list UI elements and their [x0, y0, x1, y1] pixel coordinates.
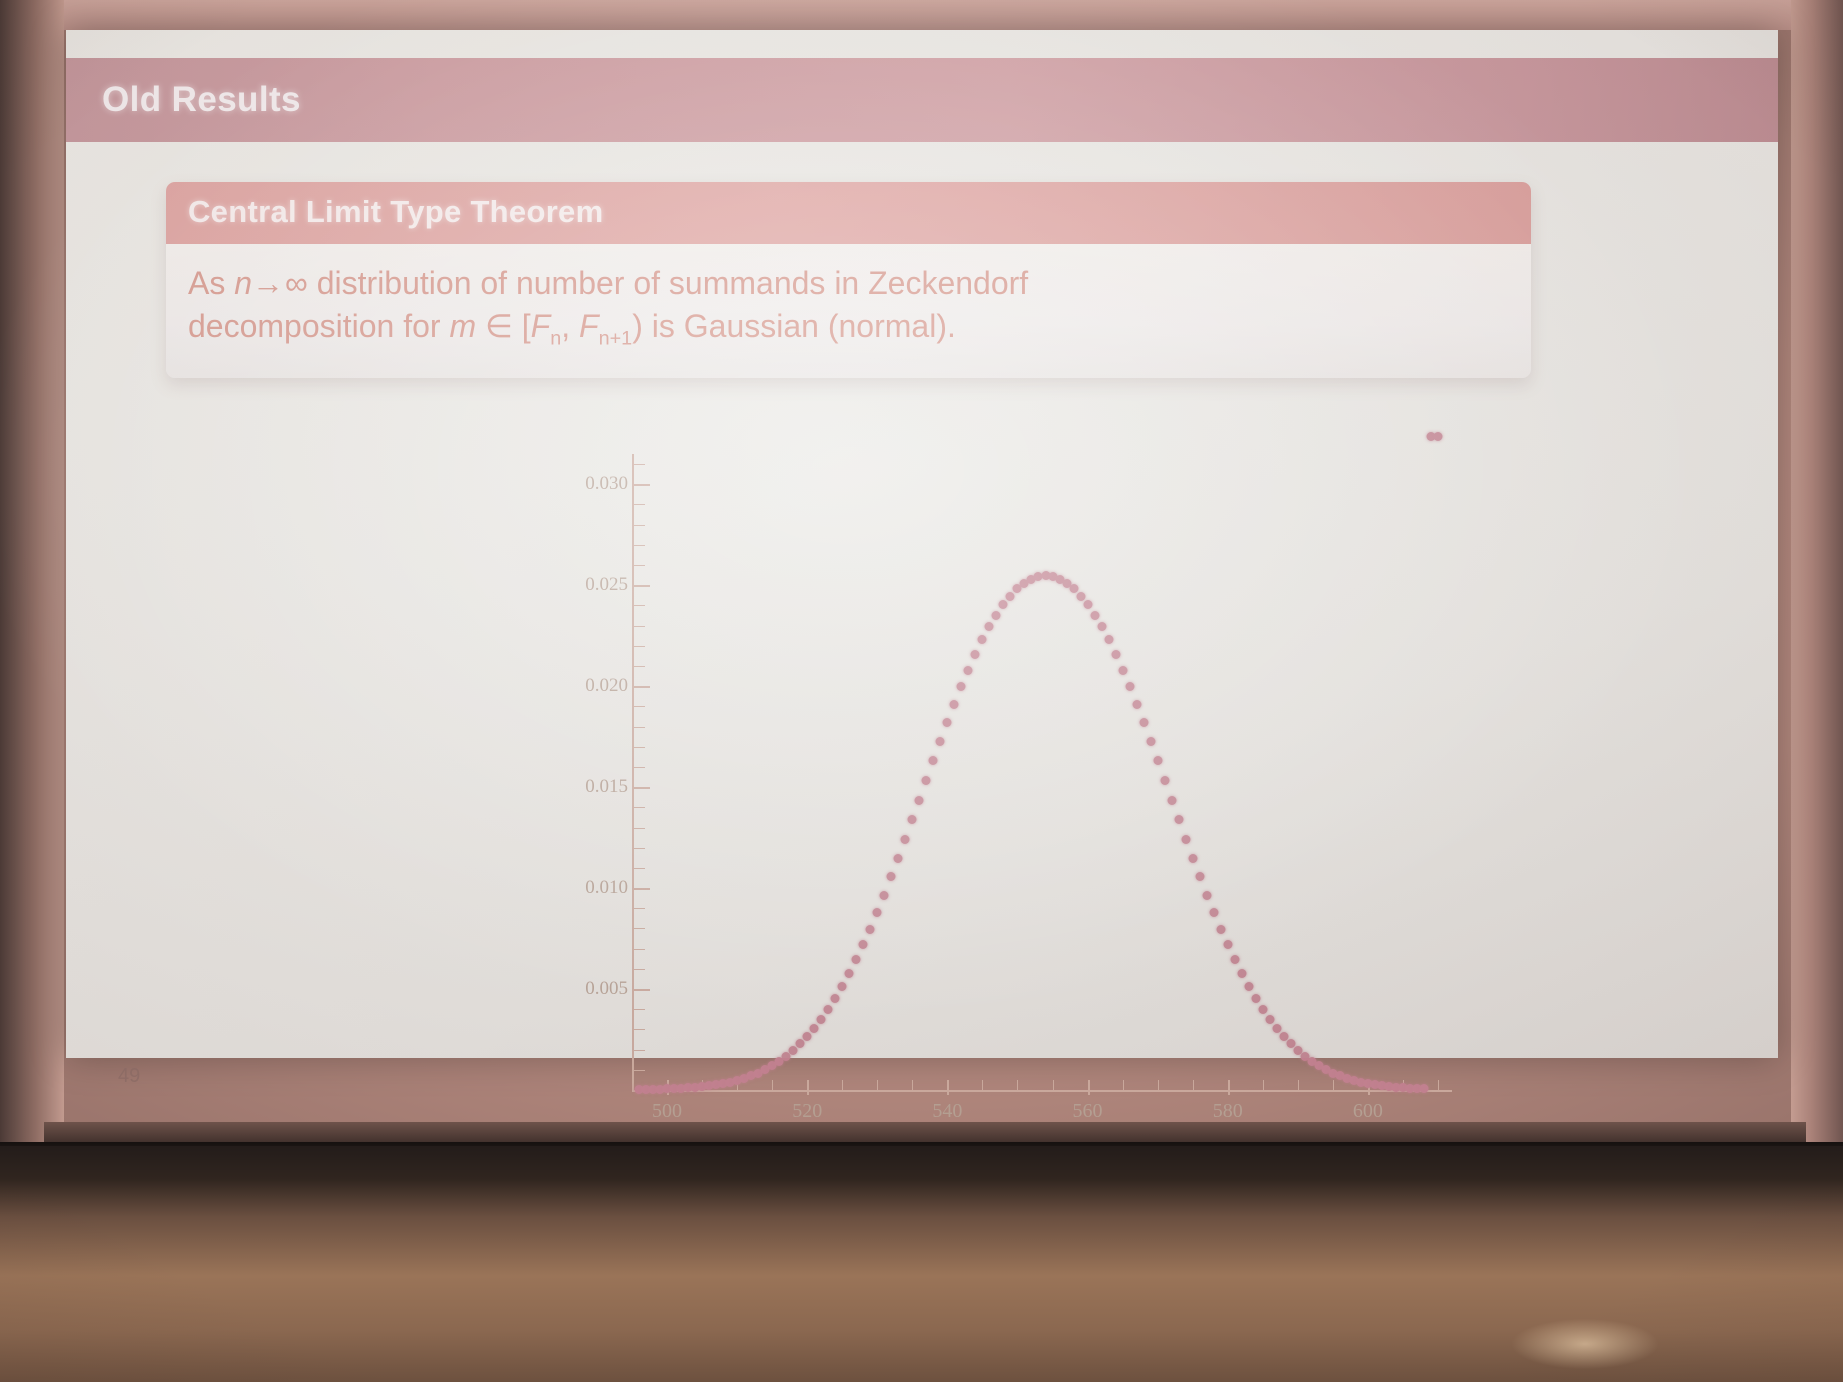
y-tick-minor	[634, 464, 645, 465]
data-point	[1433, 432, 1442, 441]
data-point	[1188, 854, 1197, 863]
data-point	[845, 969, 854, 978]
x-tick-label: 540	[912, 1100, 982, 1123]
y-tick-minor	[634, 949, 645, 950]
data-point	[936, 737, 945, 746]
y-tick-minor	[634, 908, 645, 909]
data-point	[1272, 1024, 1281, 1033]
element-of-symbol: ∈	[485, 308, 513, 344]
data-point	[901, 835, 910, 844]
y-tick-minor	[634, 727, 645, 728]
x-tick-minor	[1438, 1080, 1439, 1091]
wall-top	[0, 0, 1843, 30]
data-point	[1167, 796, 1176, 805]
data-point	[1237, 969, 1246, 978]
x-tick-minor	[1193, 1080, 1194, 1091]
theorem-fibonacci-Fn: F	[531, 308, 551, 344]
data-point	[1118, 666, 1127, 675]
data-point	[1160, 776, 1169, 785]
y-tick-minor	[634, 767, 645, 768]
y-tick-major	[634, 484, 650, 486]
data-point	[943, 718, 952, 727]
x-tick-minor	[1263, 1080, 1264, 1091]
y-tick-minor	[634, 747, 645, 748]
data-point	[1223, 940, 1232, 949]
y-tick-minor	[634, 545, 645, 546]
gaussian-distribution-chart: 0.0050.0100.0150.0200.0250.030 500520540…	[470, 432, 1470, 1122]
data-point	[1097, 622, 1106, 631]
infinity-symbol: ∞	[285, 265, 308, 301]
interval-comma: ,	[561, 308, 579, 344]
data-point	[1230, 955, 1239, 964]
interval-close-paren: )	[632, 308, 643, 344]
theorem-body: As n→∞ distribution of number of summand…	[166, 244, 1531, 378]
x-tick-minor	[772, 1080, 773, 1091]
right-arrow-icon: →	[252, 265, 285, 301]
data-point	[1125, 682, 1134, 691]
y-tick-label: 0.015	[538, 776, 628, 798]
data-point	[915, 796, 924, 805]
y-tick-label: 0.010	[538, 877, 628, 899]
data-point	[1419, 1084, 1428, 1093]
theorem-line2-variable-m: m	[449, 308, 476, 344]
theorem-heading-label: Central Limit Type Theorem	[188, 194, 603, 229]
data-point	[1181, 835, 1190, 844]
chart-x-axis	[632, 1090, 1452, 1092]
x-tick-major	[1228, 1080, 1230, 1095]
data-point	[985, 622, 994, 631]
interval-open-bracket: [	[522, 308, 531, 344]
y-tick-minor	[634, 1029, 645, 1030]
data-point	[866, 925, 875, 934]
data-point	[831, 994, 840, 1003]
y-tick-minor	[634, 666, 645, 667]
y-tick-minor	[634, 706, 645, 707]
theorem-Fn-subscript: n	[550, 327, 561, 349]
data-point	[1139, 718, 1148, 727]
projector-photo-background: Old Results Central Limit Type Theorem A…	[0, 0, 1843, 1382]
theorem-line-1: As n→∞ distribution of number of summand…	[188, 262, 1505, 305]
data-point	[978, 635, 987, 644]
data-point	[1146, 737, 1155, 746]
theorem-Fn1-subscript: n+1	[599, 327, 633, 349]
y-tick-minor	[634, 868, 645, 869]
x-tick-minor	[1123, 1080, 1124, 1091]
slide-page-number: 49	[118, 1065, 140, 1088]
y-tick-major	[634, 888, 650, 890]
x-tick-minor	[877, 1080, 878, 1091]
data-point	[908, 815, 917, 824]
theorem-line1-variable-n: n	[234, 265, 252, 301]
x-tick-label: 580	[1193, 1100, 1263, 1123]
x-tick-label: 600	[1333, 1100, 1403, 1123]
data-point	[894, 854, 903, 863]
data-point	[922, 776, 931, 785]
y-tick-minor	[634, 605, 645, 606]
y-tick-label: 0.020	[538, 675, 628, 697]
y-tick-minor	[634, 1070, 645, 1071]
data-point	[824, 1005, 833, 1014]
data-point	[873, 908, 882, 917]
data-point	[1202, 891, 1211, 900]
data-point	[1076, 592, 1085, 601]
y-tick-minor	[634, 646, 645, 647]
data-point	[1216, 925, 1225, 934]
theorem-line-2: decomposition for m ∈ [Fn, Fn+1) is Gaus…	[188, 305, 1505, 352]
data-point	[1104, 635, 1113, 644]
desk-surface	[0, 1146, 1843, 1382]
x-tick-minor	[1298, 1080, 1299, 1091]
data-point	[1251, 994, 1260, 1003]
x-tick-minor	[842, 1080, 843, 1091]
theorem-header: Central Limit Type Theorem	[166, 182, 1531, 244]
data-point	[810, 1024, 819, 1033]
y-tick-minor	[634, 565, 645, 566]
slide-header-bar: Old Results	[66, 58, 1778, 142]
y-tick-minor	[634, 1050, 645, 1051]
x-tick-minor	[1017, 1080, 1018, 1091]
data-point	[1111, 650, 1120, 659]
theorem-fibonacci-Fn1: F	[579, 308, 599, 344]
x-tick-minor	[1053, 1080, 1054, 1091]
y-tick-minor	[634, 1009, 645, 1010]
theorem-line2-pre: decomposition for	[188, 308, 449, 344]
data-point	[950, 700, 959, 709]
x-tick-label: 560	[1053, 1100, 1123, 1123]
data-point	[880, 891, 889, 900]
data-point	[796, 1039, 805, 1048]
data-point	[929, 756, 938, 765]
data-point	[1209, 908, 1218, 917]
theorem-line1-pre: As	[188, 265, 234, 301]
y-tick-minor	[634, 848, 645, 849]
x-tick-minor	[982, 1080, 983, 1091]
data-point	[1006, 592, 1015, 601]
data-point	[1265, 1015, 1274, 1024]
data-point	[887, 872, 896, 881]
data-point	[971, 650, 980, 659]
data-point	[1258, 1005, 1267, 1014]
x-tick-minor	[1333, 1080, 1334, 1091]
data-point	[1153, 756, 1162, 765]
y-tick-minor	[634, 828, 645, 829]
y-tick-major	[634, 686, 650, 688]
y-tick-minor	[634, 626, 645, 627]
data-point	[838, 982, 847, 991]
data-point	[1083, 600, 1092, 609]
desk-light-reflection	[1480, 1314, 1690, 1374]
data-point	[1244, 982, 1253, 991]
x-tick-minor	[912, 1080, 913, 1091]
x-tick-minor	[1158, 1080, 1159, 1091]
data-point	[1195, 872, 1204, 881]
y-tick-label: 0.005	[538, 978, 628, 1000]
y-tick-minor	[634, 969, 645, 970]
y-tick-major	[634, 989, 650, 991]
x-tick-major	[1088, 1080, 1090, 1095]
x-tick-label: 520	[772, 1100, 842, 1123]
x-tick-major	[807, 1080, 809, 1095]
data-point	[992, 611, 1001, 620]
x-tick-label: 500	[632, 1100, 702, 1123]
data-point	[852, 955, 861, 964]
data-point	[859, 940, 868, 949]
theorem-line2-post: is Gaussian (normal).	[643, 308, 956, 344]
data-point	[1132, 700, 1141, 709]
data-point	[817, 1015, 826, 1024]
y-tick-major	[634, 787, 650, 789]
presentation-slide: Old Results Central Limit Type Theorem A…	[66, 30, 1778, 1058]
y-tick-minor	[634, 504, 645, 505]
y-tick-major	[634, 585, 650, 587]
x-tick-minor	[632, 1080, 633, 1091]
y-tick-minor	[634, 928, 645, 929]
data-point	[964, 666, 973, 675]
y-tick-label: 0.025	[538, 574, 628, 596]
theorem-line1-post: distribution of number of summands in Ze…	[308, 265, 1028, 301]
x-tick-major	[947, 1080, 949, 1095]
data-point	[1174, 815, 1183, 824]
page-title: Old Results	[102, 80, 301, 120]
data-point	[999, 600, 1008, 609]
y-tick-minor	[634, 525, 645, 526]
data-point	[803, 1032, 812, 1041]
chart-y-axis	[632, 454, 634, 1092]
theorem-block: Central Limit Type Theorem As n→∞ distri…	[166, 182, 1531, 378]
y-tick-minor	[634, 807, 645, 808]
data-point	[957, 682, 966, 691]
y-tick-label: 0.030	[538, 473, 628, 495]
data-point	[1090, 611, 1099, 620]
